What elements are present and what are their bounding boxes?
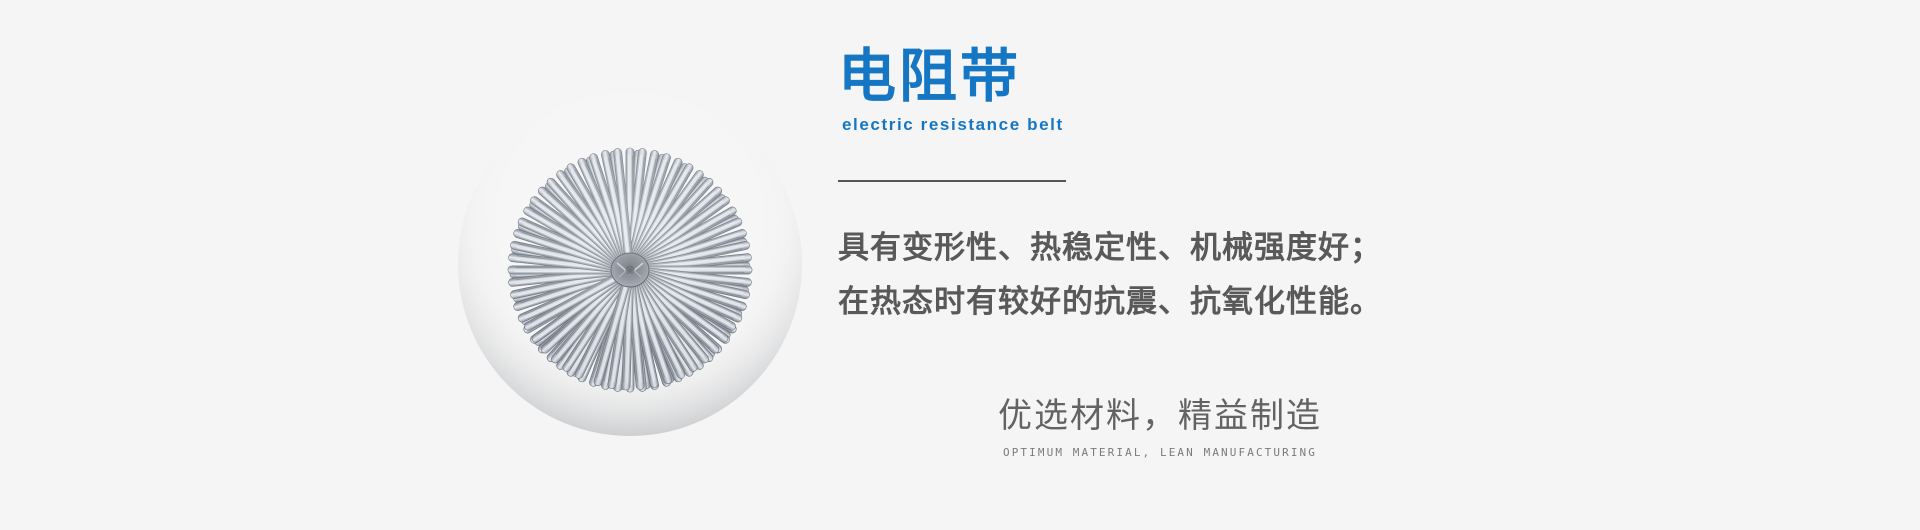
description-line-1: 具有变形性、热稳定性、机械强度好； bbox=[838, 228, 1538, 269]
heading-block: 电阻带 electric resistance belt bbox=[838, 46, 1478, 135]
description-block: 具有变形性、热稳定性、机械强度好； 在热态时有较好的抗震、抗氧化性能。 bbox=[838, 228, 1538, 323]
page-subtitle: electric resistance belt bbox=[842, 115, 1478, 135]
tagline-english: OPTIMUM MATERIAL, LEAN MANUFACTURING bbox=[950, 446, 1370, 459]
description-line-2: 在热态时有较好的抗震、抗氧化性能。 bbox=[838, 282, 1538, 323]
product-banner: 电阻带 electric resistance belt 具有变形性、热稳定性、… bbox=[0, 0, 1920, 530]
tagline-chinese: 优选材料，精益制造 bbox=[950, 396, 1370, 437]
page-title: 电阻带 bbox=[838, 46, 1478, 107]
resistance-belt-burst bbox=[410, 94, 850, 446]
product-image bbox=[410, 94, 850, 446]
tagline-block: 优选材料，精益制造 OPTIMUM MATERIAL, LEAN MANUFAC… bbox=[950, 396, 1370, 459]
title-divider bbox=[838, 180, 1066, 182]
coil-core bbox=[611, 253, 649, 287]
text-column: 电阻带 electric resistance belt 具有变形性、热稳定性、… bbox=[838, 0, 1858, 530]
resistance-belt-illustration bbox=[410, 94, 850, 446]
